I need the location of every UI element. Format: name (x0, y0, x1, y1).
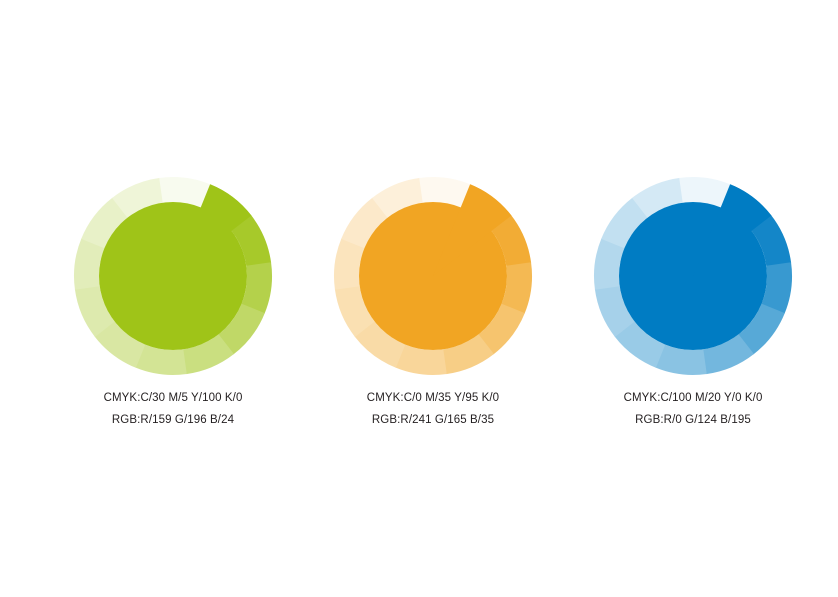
rgb-label: RGB:R/241 G/165 B/35 (293, 414, 573, 426)
rgb-label: RGB:R/159 G/196 B/24 (33, 414, 313, 426)
swatch-canvas: CMYK:C/30 M/5 Y/100 K/0RGB:R/159 G/196 B… (0, 0, 838, 597)
wheel-graphic (334, 177, 532, 375)
rgb-label: RGB:R/0 G/124 B/195 (553, 414, 833, 426)
color-swatch-orange: CMYK:C/0 M/35 Y/95 K/0RGB:R/241 G/165 B/… (293, 0, 573, 597)
cmyk-label: CMYK:C/100 M/20 Y/0 K/0 (553, 392, 833, 404)
color-swatch-green: CMYK:C/30 M/5 Y/100 K/0RGB:R/159 G/196 B… (33, 0, 313, 597)
color-wheel-green (74, 177, 272, 375)
wheel-graphic (74, 177, 272, 375)
cmyk-label: CMYK:C/30 M/5 Y/100 K/0 (33, 392, 313, 404)
cmyk-label: CMYK:C/0 M/35 Y/95 K/0 (293, 392, 573, 404)
wheel-graphic (594, 177, 792, 375)
color-swatch-blue: CMYK:C/100 M/20 Y/0 K/0RGB:R/0 G/124 B/1… (553, 0, 833, 597)
color-wheel-blue (594, 177, 792, 375)
color-wheel-orange (334, 177, 532, 375)
